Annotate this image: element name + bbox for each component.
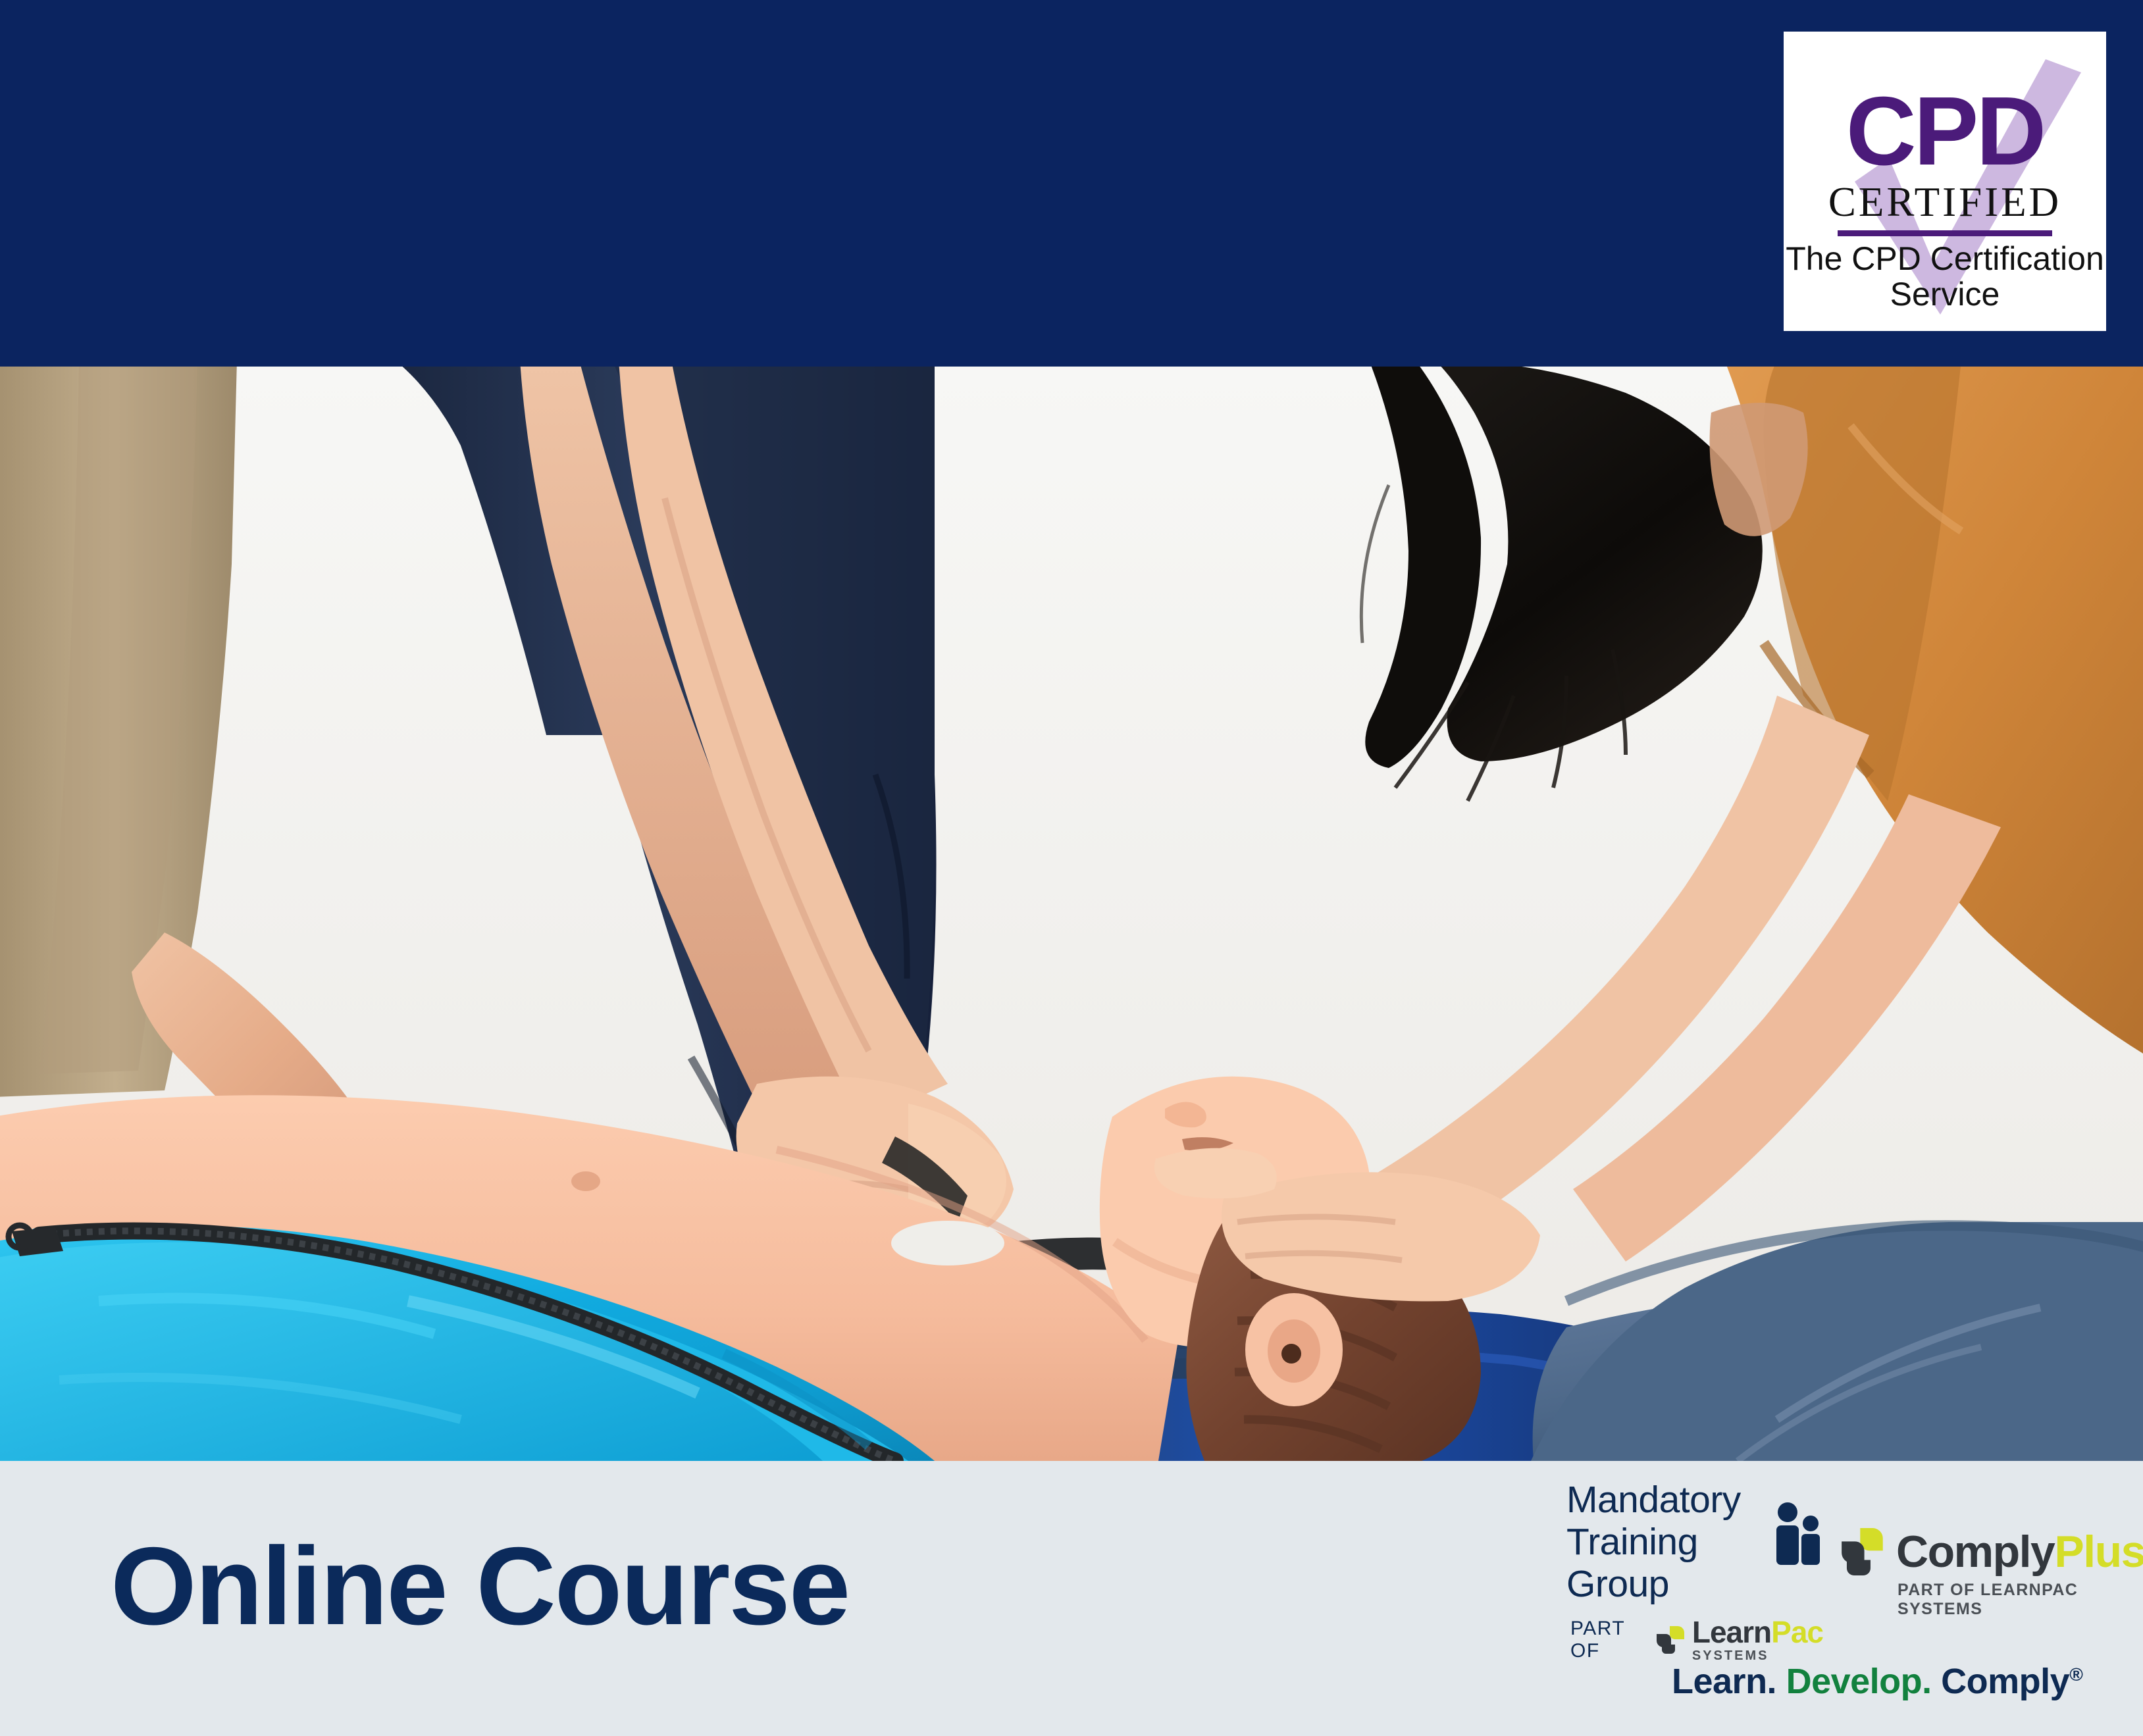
course-promo-card: CSTF Resuscitation - Adult Basic Life Su… xyxy=(0,0,2143,1736)
tagline-learn: Learn. xyxy=(1672,1662,1776,1701)
part-of-label: PART OF xyxy=(1570,1618,1641,1662)
learnpac-glyph-icon xyxy=(1655,1625,1686,1655)
learnpac-systems: SYSTEMS xyxy=(1692,1649,1823,1662)
complyplus-comply: Comply xyxy=(1896,1527,2054,1577)
complyplus-logo: ComplyPlusTM PART OF LEARNPAC SYSTEMS xyxy=(1840,1527,2143,1619)
tagline-develop: Develop. xyxy=(1786,1662,1932,1701)
learnpac-learn: Learn xyxy=(1692,1615,1771,1649)
brand-tagline: Learn. Develop. Comply® xyxy=(1672,1664,2082,1699)
cpd-certified-word: CERTIFIED xyxy=(1784,182,2106,223)
learnpac-pac: Pac xyxy=(1771,1615,1823,1649)
registered-trademark-symbol: ® xyxy=(2069,1664,2082,1685)
cpr-training-photo xyxy=(0,367,2143,1461)
cpd-service-line: The CPD Certification Service xyxy=(1784,241,2106,312)
two-people-icon xyxy=(1772,1502,1823,1571)
complyplus-glyph-icon xyxy=(1840,1527,1887,1577)
cpd-letters: CPD xyxy=(1784,83,2106,180)
cpd-divider xyxy=(1838,230,2052,236)
tagline-comply: Comply xyxy=(1941,1662,2069,1701)
complyplus-subtitle: PART OF LEARNPAC SYSTEMS xyxy=(1898,1581,2143,1619)
cpd-certified-badge: CPD CERTIFIED The CPD Certification Serv… xyxy=(1784,32,2106,331)
footer-headline: Online Course xyxy=(111,1531,849,1641)
mandatory-training-group-logo: Mandatory Training Group PART OF xyxy=(1566,1479,1823,1662)
learnpac-mark: LearnPac SYSTEMS xyxy=(1655,1617,1823,1662)
mtg-wordmark: Mandatory Training Group xyxy=(1566,1479,1765,1605)
complyplus-plus: Plus xyxy=(2054,1527,2143,1577)
